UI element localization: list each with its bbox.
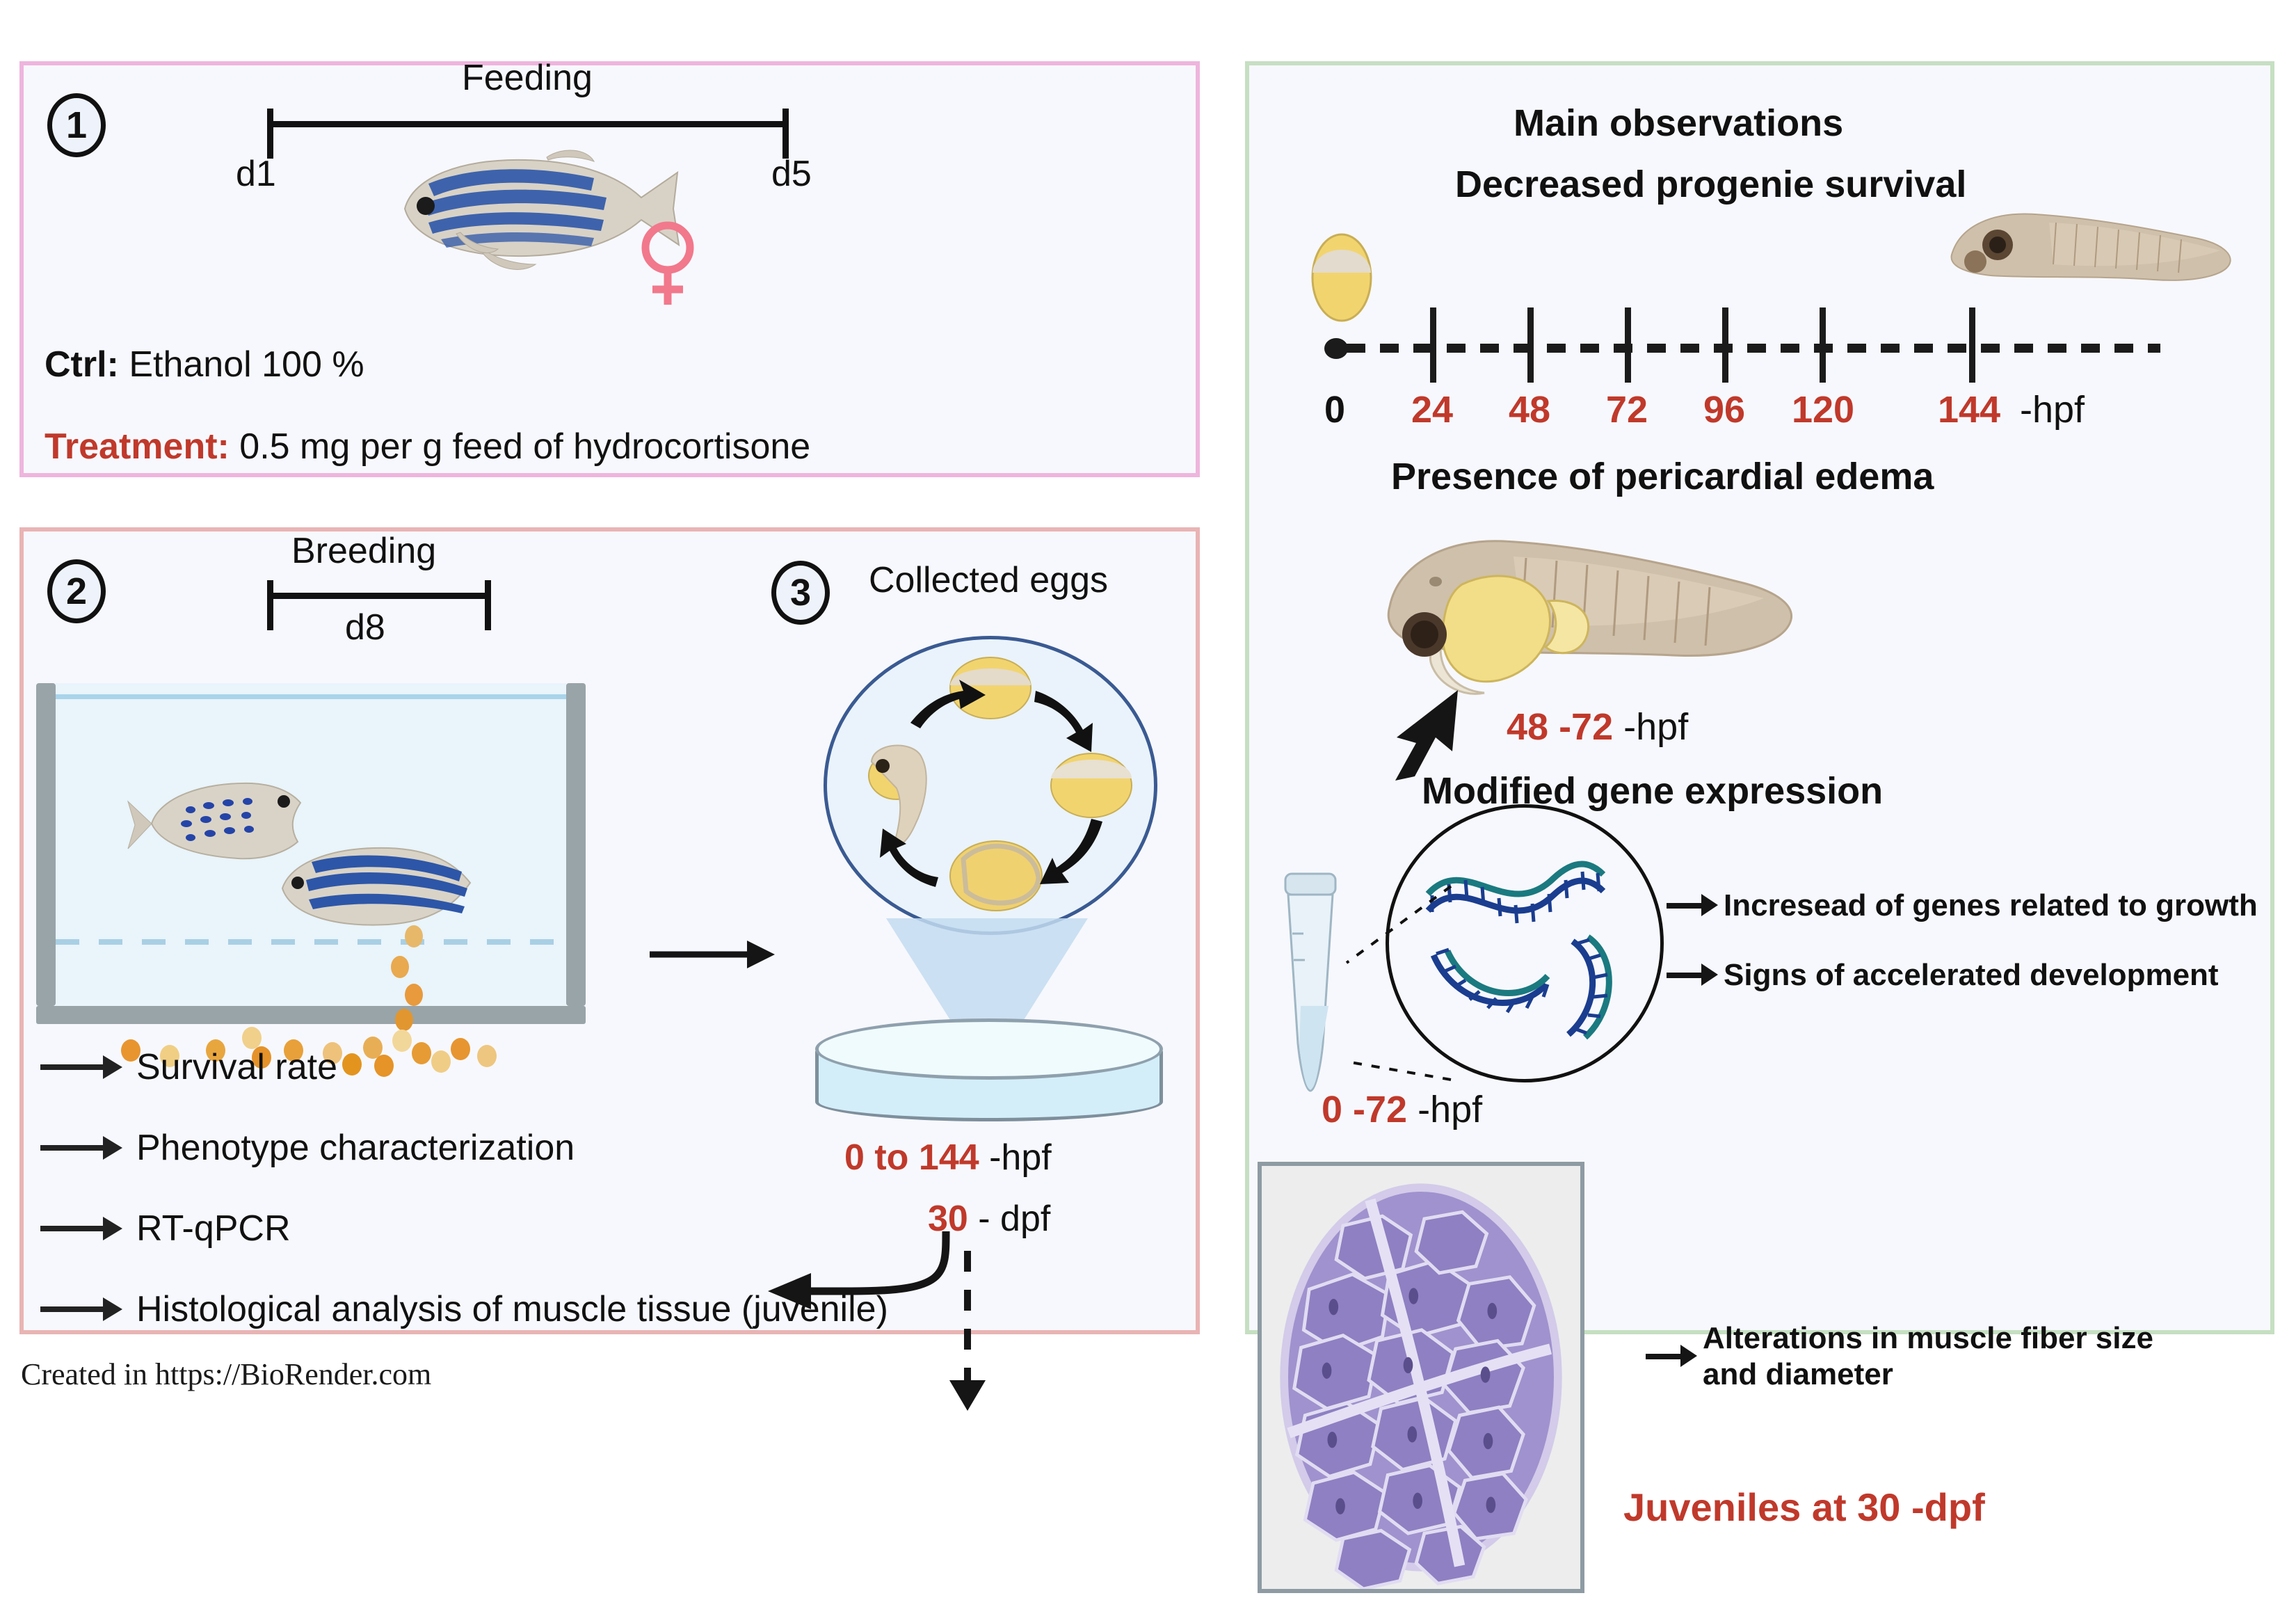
curved-arrow-to-outcomes [747,1227,963,1325]
egg [405,925,423,948]
timeline-label-144: 144 [1927,388,2011,431]
embryo-egg-icon [1303,232,1380,323]
main-observations-title: Main observations [1514,102,1843,145]
muscle-histology-image [1258,1162,1584,1593]
bracket-bar [267,593,491,599]
pointer-arrow-icon [1386,679,1483,783]
outcome-row-phenotype: Phenotype characterization [40,1127,575,1169]
ctrl-label: Ctrl: [45,344,119,385]
treatment-value: 0.5 mg per g feed of hydrocortisone [230,426,810,467]
edema-time-value: 48 -72 [1507,706,1613,748]
timeline-tick-48 [1527,307,1534,383]
female-symbol-icon [636,220,700,310]
hpf-value: 0 to 144 [844,1137,979,1178]
timeline-label-120: 120 [1781,388,1865,431]
tank-base [36,1006,586,1024]
muscle-bullet-row: Alterations in muscle fiber size and dia… [1646,1320,2153,1393]
arrow-right-icon [1667,973,1703,978]
arrow-right-icon [40,1226,104,1231]
gene-expression-heading: Modified gene expression [1422,769,1883,813]
day-end-label: d5 [771,153,812,195]
arrow-right-icon [1646,1354,1682,1359]
dashed-arrow-to-juvenile [964,1251,971,1382]
timeline-unit-label: -hpf [2020,388,2085,431]
outcome-label: Phenotype characterization [136,1127,575,1169]
day-start-label: d1 [236,153,276,195]
egg [431,1050,451,1073]
development-stages-illustration [827,639,1154,932]
panel-1-badge: 1 [47,93,106,157]
treatment-line: Treatment: 0.5 mg per g feed of hydrocor… [45,426,810,467]
outcome-label: Survival rate [136,1046,337,1088]
egg-development-circle [824,636,1157,935]
gene-bullet-label: Signs of accelerated development [1724,957,2219,993]
breeding-label: Breeding [291,530,436,572]
bracket-left-cap [267,109,273,159]
arrow-right-icon [40,1306,104,1312]
gene-bullet-label: Incresead of genes related to growth [1724,888,2258,924]
ctrl-value: Ethanol 100 % [119,344,364,385]
egg [342,1053,362,1076]
muscle-bullet-line2: and diameter [1703,1357,1893,1391]
egg [477,1045,497,1067]
tank-wall-right [566,683,586,1006]
egg [391,956,409,978]
timeline-tick-120 [1820,307,1826,383]
petri-dish-lid [815,1018,1163,1080]
water-surface-line [56,694,566,699]
gene-time-unit: -hpf [1418,1089,1482,1130]
treatment-label: Treatment: [45,426,230,467]
edema-heading: Presence of pericardial edema [1391,455,1934,498]
outcome-row-survival-rate: Survival rate [40,1046,337,1088]
zoom-connector-lines [1333,879,1458,1088]
gene-time-value: 0 -72 [1322,1089,1407,1130]
collected-eggs-title: Collected eggs [869,559,1108,601]
tank-wall-left [36,683,56,1006]
egg [395,1009,413,1031]
panel-2-badge: 2 [47,559,106,623]
gene-time-line: 0 -72 -hpf [1322,1088,1482,1131]
timeline-label-72: 72 [1596,388,1658,431]
hpf-range-line: 0 to 144 -hpf [844,1137,1052,1178]
ctrl-line: Ctrl: Ethanol 100 % [45,344,364,385]
timeline-label-24: 24 [1401,388,1463,431]
aquarium-tank [36,683,586,1024]
bracket-bar [267,121,789,127]
bracket-right-cap [485,580,491,630]
panel-main-observations: Main observations Decreased progenie sur… [1245,61,2274,1334]
panel-3-badge: 3 [771,561,830,625]
arrow-right-icon [40,1145,104,1151]
panel-feeding: 1 Feeding d1 d5 Ctrl: Ethanol 100 % Trea… [19,61,1200,477]
dpf-unit: - dpf [978,1199,1050,1239]
outcome-row-rtqpcr: RT-qPCR [40,1208,291,1249]
egg [451,1038,470,1060]
timeline-tick-72 [1625,307,1631,383]
timeline-tick-144 [1969,307,1975,383]
muscle-bullet-line1: Alterations in muscle fiber size [1703,1321,2153,1355]
breeding-duration-label: d8 [345,607,385,648]
egg [392,1030,412,1052]
egg [405,984,423,1006]
edema-time-line: 48 -72 -hpf [1507,705,1688,749]
muscle-fiber-cross-section [1262,1166,1580,1589]
timeline-tick-24 [1430,307,1436,383]
arrow-right-icon [40,1064,104,1070]
bracket-right-cap [782,109,789,159]
timeline-origin-dot [1324,338,1348,359]
biorender-credit: Created in https://BioRender.com [21,1357,431,1392]
hpf-unit: -hpf [989,1137,1052,1178]
edema-time-unit: -hpf [1623,706,1688,748]
gene-bullet-development: Signs of accelerated development [1667,957,2219,993]
bracket-left-cap [267,580,273,630]
larva-illustration [1945,195,2237,306]
timeline-label-96: 96 [1693,388,1756,431]
egg [412,1042,431,1064]
striped-zebrafish-illustration [266,833,474,944]
timeline-tick-96 [1722,307,1728,383]
timeline-dashed-axis [1347,344,2160,353]
feeding-label: Feeding [462,57,593,99]
outcome-label: RT-qPCR [136,1208,291,1249]
juveniles-caption: Juveniles at 30 -dpf [1623,1485,1985,1530]
survival-heading: Decreased progenie survival [1455,163,1966,206]
egg [374,1055,394,1077]
panel-breeding: 2 Breeding d8 [19,527,1200,1334]
timeline-label-48: 48 [1498,388,1561,431]
arrow-right-icon [1667,903,1703,909]
gene-bullet-growth: Incresead of genes related to growth [1667,888,2258,924]
flow-arrow-to-collected-eggs [650,934,775,975]
timeline-label-0: 0 [1310,388,1359,431]
